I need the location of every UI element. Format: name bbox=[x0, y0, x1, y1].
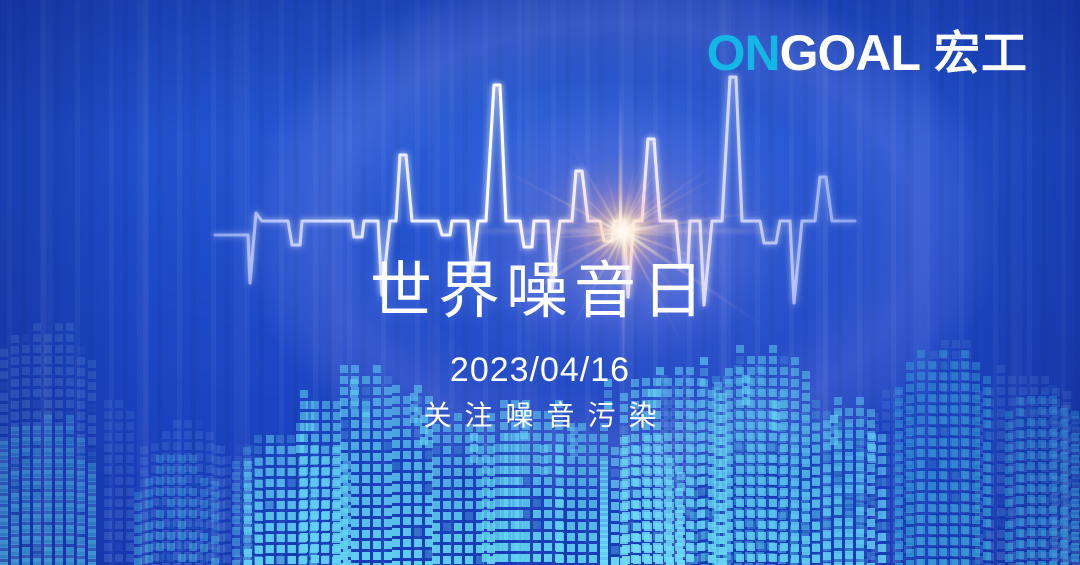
logo-latin-wordmark: ONGOAL bbox=[707, 28, 920, 78]
poster-canvas: ONGOAL 宏工 世界噪音日 2023/04/16 关注噪音污染 bbox=[0, 0, 1080, 565]
logo-text-on: ON bbox=[707, 25, 780, 81]
background-vignette bbox=[0, 0, 1080, 565]
brand-logo[interactable]: ONGOAL 宏工 bbox=[707, 28, 1028, 78]
logo-text-goal: GOAL bbox=[780, 25, 920, 81]
logo-chinese-wordmark: 宏工 bbox=[934, 30, 1028, 76]
